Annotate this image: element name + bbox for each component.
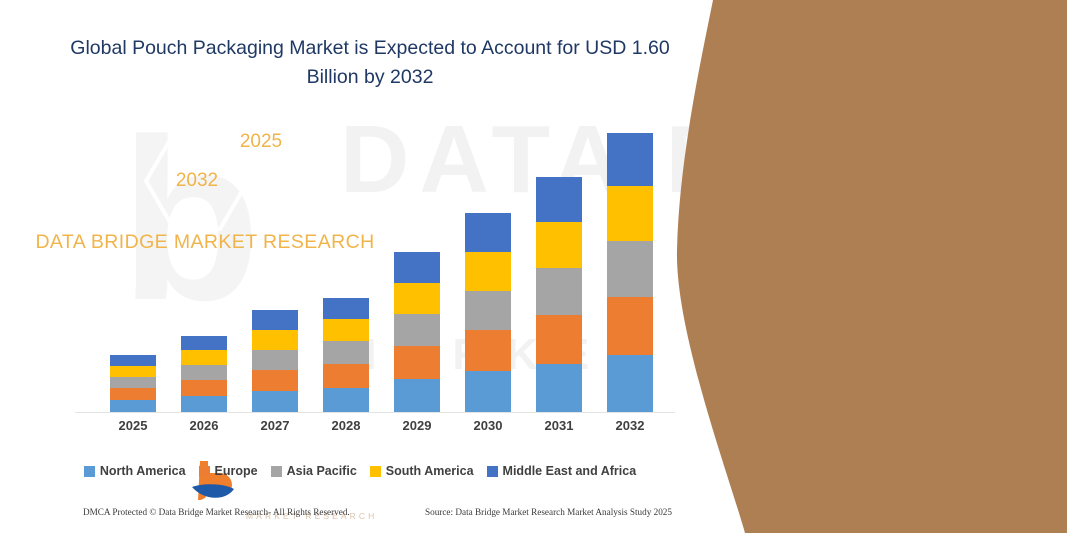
footer-copyright: DMCA Protected © Data Bridge Market Rese…	[83, 507, 350, 517]
bar-segment-south-america	[394, 283, 440, 314]
bar-segment-europe	[465, 330, 511, 371]
bar-segment-south-america	[252, 330, 298, 350]
bar-segment-europe	[110, 388, 156, 400]
bar-segment-asia-pacific	[536, 268, 582, 315]
bar-stack-2030	[465, 213, 511, 412]
bar-segment-europe	[323, 364, 369, 388]
bar-stack-2031	[536, 177, 582, 412]
bar-segment-north-america	[465, 371, 511, 412]
bar-segment-middle-east-and-africa	[465, 213, 511, 252]
bar-segment-south-america	[110, 366, 156, 377]
legend-swatch-icon	[199, 466, 210, 477]
bar-segment-middle-east-and-africa	[323, 298, 369, 319]
bar-stack-2029	[394, 252, 440, 412]
bar-segment-middle-east-and-africa	[607, 133, 653, 186]
legend-item-europe[interactable]: Europe	[199, 464, 258, 478]
bar-segment-europe	[252, 370, 298, 391]
bar-stack-2027	[252, 310, 298, 412]
legend-swatch-icon	[370, 466, 381, 477]
legend-label: Asia Pacific	[287, 464, 357, 478]
bar-segment-europe	[536, 315, 582, 364]
panel-shape	[667, 0, 1067, 533]
bar-segment-south-america	[607, 186, 653, 241]
x-label-2029: 2029	[387, 418, 447, 433]
legend-label: Middle East and Africa	[503, 464, 637, 478]
legend-item-south-america[interactable]: South America	[370, 464, 474, 478]
bar-segment-north-america	[252, 391, 298, 412]
bar-segment-middle-east-and-africa	[536, 177, 582, 222]
footer: DMCA Protected © Data Bridge Market Rese…	[0, 507, 700, 523]
bar-segment-north-america	[607, 355, 653, 412]
bar-segment-north-america	[110, 400, 156, 412]
x-label-2025: 2025	[103, 418, 163, 433]
legend-item-middle-east-and-africa[interactable]: Middle East and Africa	[487, 464, 637, 478]
bar-segment-europe	[181, 380, 227, 396]
x-label-2031: 2031	[529, 418, 589, 433]
bar-segment-middle-east-and-africa	[252, 310, 298, 330]
legend-label: North America	[100, 464, 186, 478]
bar-stack-2026	[181, 336, 227, 412]
bar-segment-asia-pacific	[607, 241, 653, 297]
bar-segment-asia-pacific	[181, 365, 227, 380]
bar-segment-asia-pacific	[252, 350, 298, 370]
bar-segment-middle-east-and-africa	[181, 336, 227, 350]
bar-segment-south-america	[465, 252, 511, 291]
x-label-2027: 2027	[245, 418, 305, 433]
legend-item-north-america[interactable]: North America	[84, 464, 186, 478]
x-axis-line	[75, 412, 675, 413]
infographic-root: b DATA BRIDGE MARKET RESEARCH Global Pou…	[0, 0, 1067, 533]
bar-segment-middle-east-and-africa	[394, 252, 440, 283]
legend-swatch-icon	[487, 466, 498, 477]
bar-stack-2025	[110, 355, 156, 412]
legend-swatch-icon	[271, 466, 282, 477]
legend-item-asia-pacific[interactable]: Asia Pacific	[271, 464, 357, 478]
footer-source: Source: Data Bridge Market Research Mark…	[425, 507, 672, 517]
bar-stack-2028	[323, 298, 369, 412]
bar-segment-asia-pacific	[110, 377, 156, 388]
bar-segment-north-america	[394, 379, 440, 412]
chart-legend: North America Europe Asia Pacific South …	[0, 464, 720, 478]
bar-segment-north-america	[181, 396, 227, 412]
bar-segment-south-america	[181, 350, 227, 365]
legend-swatch-icon	[84, 466, 95, 477]
bar-segment-europe	[607, 297, 653, 355]
legend-label: South America	[386, 464, 474, 478]
x-label-2028: 2028	[316, 418, 376, 433]
bar-stack-2032	[607, 133, 653, 412]
bar-segment-asia-pacific	[465, 291, 511, 330]
bar-segment-europe	[394, 346, 440, 379]
bar-segment-asia-pacific	[323, 341, 369, 364]
x-label-2030: 2030	[458, 418, 518, 433]
bar-segment-middle-east-and-africa	[110, 355, 156, 366]
bar-segment-south-america	[536, 222, 582, 268]
x-label-2026: 2026	[174, 418, 234, 433]
bar-segment-south-america	[323, 319, 369, 341]
x-label-2032: 2032	[600, 418, 660, 433]
x-axis-labels: 2025 2026 2027 2028 2029 2030 2031 2032	[0, 418, 720, 438]
chart-plot-area: 2025 2026 2027 2028 2029 2030 2031 2032 …	[0, 0, 720, 533]
bar-segment-north-america	[536, 364, 582, 412]
legend-label: Europe	[215, 464, 258, 478]
right-panel	[667, 0, 1067, 533]
bar-segment-asia-pacific	[394, 314, 440, 346]
bar-segment-north-america	[323, 388, 369, 412]
